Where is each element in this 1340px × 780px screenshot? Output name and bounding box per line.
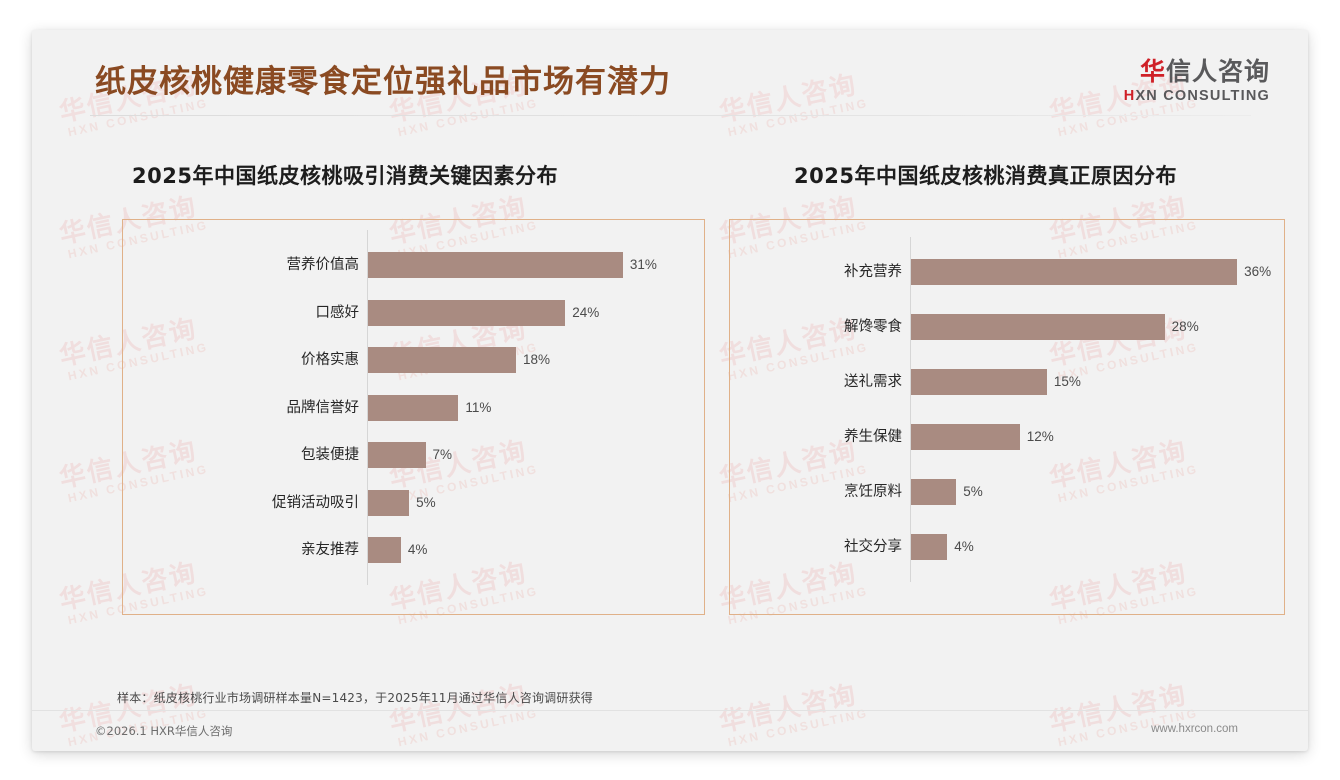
bar (368, 252, 623, 278)
bar-category-label: 补充营养 (730, 259, 902, 285)
bar-category-label: 社交分享 (730, 534, 902, 560)
page-title: 纸皮核桃健康零食定位强礼品市场有潜力 (95, 56, 671, 101)
logo-en-red: H (1124, 88, 1136, 104)
footer-copyright: ©2026.1 HXR华信人咨询 (95, 723, 232, 739)
bar-category-label: 解馋零食 (730, 314, 902, 340)
bar-value-label: 5% (416, 490, 436, 516)
company-logo: 华信人咨询 HXN CONSULTING (1124, 58, 1270, 106)
header-divider (90, 115, 1251, 116)
sample-note: 样本：纸皮核桃行业市场调研样本量N=1423，于2025年11月通过华信人咨询调… (117, 689, 593, 706)
bar (911, 479, 956, 505)
footer-website: www.hxrcon.com (1151, 723, 1238, 735)
chart-block-right: 2025年中国纸皮核桃消费真正原因分布 补充营养36%解馋零食28%送礼需求15… (697, 160, 1284, 615)
bar (911, 424, 1020, 450)
axis-line-right (910, 237, 911, 582)
bar-value-label: 24% (572, 300, 599, 326)
bar-category-label: 包装便捷 (123, 442, 359, 468)
chart-panel-left: 营养价值高31%口感好24%价格实惠18%品牌信誉好11%包装便捷7%促销活动吸… (122, 219, 705, 615)
bar-value-label: 15% (1054, 369, 1081, 395)
bar (368, 300, 565, 326)
bar (368, 537, 401, 563)
bar (368, 490, 409, 516)
logo-en-gray: XN CONSULTING (1135, 88, 1270, 104)
bar-category-label: 营养价值高 (123, 252, 359, 278)
bar-category-label: 亲友推荐 (123, 537, 359, 563)
bar-chart-left: 营养价值高31%口感好24%价格实惠18%品牌信誉好11%包装便捷7%促销活动吸… (123, 220, 704, 614)
chart-panel-right: 补充营养36%解馋零食28%送礼需求15%养生保健12%烹饪原料5%社交分享4% (729, 219, 1285, 615)
bar-value-label: 12% (1027, 424, 1054, 450)
bar-category-label: 烹饪原料 (730, 479, 902, 505)
bar-value-label: 4% (408, 537, 428, 563)
bar-chart-right: 补充营养36%解馋零食28%送礼需求15%养生保健12%烹饪原料5%社交分享4% (730, 220, 1284, 614)
bar-category-label: 送礼需求 (730, 369, 902, 395)
logo-cn-gray: 信人咨询 (1166, 57, 1270, 86)
bar-category-label: 口感好 (123, 300, 359, 326)
bar-value-label: 31% (630, 252, 657, 278)
bar-value-label: 36% (1244, 259, 1271, 285)
bar-category-label: 养生保健 (730, 424, 902, 450)
bar (368, 347, 516, 373)
bar-category-label: 促销活动吸引 (123, 490, 359, 516)
slide-header: 纸皮核桃健康零食定位强礼品市场有潜力 (32, 30, 1308, 118)
bar (368, 442, 426, 468)
bar (911, 369, 1047, 395)
bar-value-label: 7% (433, 442, 453, 468)
logo-cn-red: 华 (1140, 57, 1166, 86)
bar-category-label: 价格实惠 (123, 347, 359, 373)
bar (911, 314, 1165, 340)
bar-value-label: 28% (1172, 314, 1199, 340)
chart-title-left: 2025年中国纸皮核桃吸引消费关键因素分布 (132, 160, 704, 190)
logo-english: HXN CONSULTING (1124, 87, 1270, 106)
bar-value-label: 11% (465, 395, 491, 421)
slide-footer: ©2026.1 HXR华信人咨询 www.hxrcon.com (32, 711, 1308, 751)
bar (368, 395, 458, 421)
bar (911, 259, 1237, 285)
chart-block-left: 2025年中国纸皮核桃吸引消费关键因素分布 营养价值高31%口感好24%价格实惠… (90, 160, 704, 615)
bar-category-label: 品牌信誉好 (123, 395, 359, 421)
slide-card: 华信人咨询HXN CONSULTING华信人咨询HXN CONSULTING华信… (32, 30, 1308, 751)
bar (911, 534, 947, 560)
logo-chinese: 华信人咨询 (1124, 58, 1270, 86)
bar-value-label: 4% (954, 534, 974, 560)
chart-title-right: 2025年中国纸皮核桃消费真正原因分布 (794, 160, 1284, 190)
bar-value-label: 18% (523, 347, 550, 373)
bar-value-label: 5% (963, 479, 983, 505)
